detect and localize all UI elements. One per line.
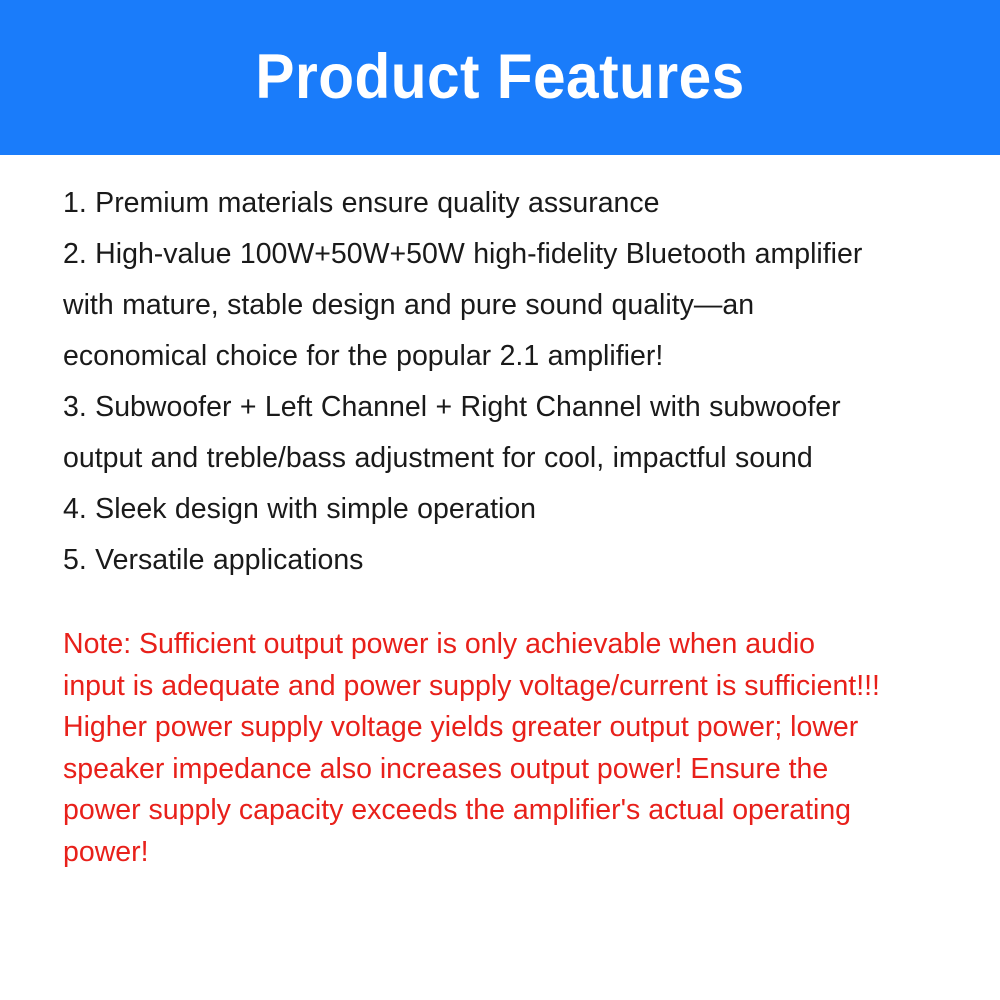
note-text: Note: Sufficient output power is only ac…: [63, 624, 881, 873]
feature-item-1: 1. Premium materials ensure quality assu…: [63, 178, 893, 229]
page-title: Product Features: [255, 46, 744, 109]
product-features-page: Product Features 1. Premium materials en…: [0, 0, 1000, 1000]
feature-item-3: 3. Subwoofer + Left Channel + Right Chan…: [63, 382, 893, 484]
feature-item-2: 2. High-value 100W+50W+50W high-fidelity…: [63, 229, 893, 382]
feature-list: 1. Premium materials ensure quality assu…: [63, 178, 893, 586]
feature-item-4: 4. Sleek design with simple operation: [63, 484, 893, 535]
note-block: Note: Sufficient output power is only ac…: [63, 624, 893, 873]
header-banner: Product Features: [0, 0, 1000, 155]
content-area: 1. Premium materials ensure quality assu…: [63, 178, 893, 873]
feature-item-5: 5. Versatile applications: [63, 535, 893, 586]
